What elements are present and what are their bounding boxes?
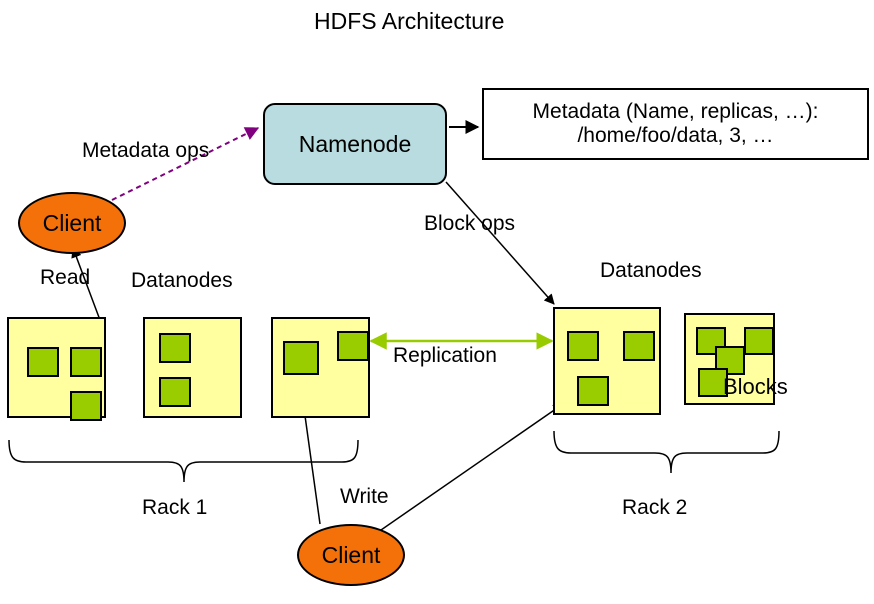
label-datanodes-left: Datanodes <box>131 269 233 293</box>
label-write: Write <box>340 485 389 509</box>
block <box>577 376 609 406</box>
block <box>70 391 102 421</box>
label-metadata-ops: Metadata ops <box>82 139 209 163</box>
block <box>27 347 59 377</box>
namenode-label: Namenode <box>265 131 445 158</box>
block <box>567 331 599 361</box>
metadata-line-2: /home/foo/data, 3, … <box>577 124 773 148</box>
block <box>159 333 191 363</box>
block <box>159 377 191 407</box>
block <box>337 331 369 361</box>
label-rack2: Rack 2 <box>622 496 687 520</box>
block <box>283 341 319 375</box>
label-replication: Replication <box>393 344 497 368</box>
label-rack1: Rack 1 <box>142 496 207 520</box>
metadata-box: Metadata (Name, replicas, …): /home/foo/… <box>482 88 869 160</box>
client-top-label: Client <box>43 210 102 237</box>
client-node-bottom[interactable]: Client <box>297 524 405 586</box>
client-bottom-label: Client <box>322 542 381 569</box>
block <box>623 331 655 361</box>
datanode-rack1-2[interactable] <box>143 317 242 418</box>
rack2-brace <box>554 431 779 473</box>
metadata-line-1: Metadata (Name, replicas, …): <box>533 100 819 124</box>
datanode-rack1-3[interactable] <box>271 317 370 418</box>
edge-block-ops <box>446 182 554 304</box>
client-node-top[interactable]: Client <box>18 192 126 254</box>
datanode-rack1-1[interactable] <box>7 317 106 418</box>
edge-write-to-dn4 <box>381 404 563 530</box>
label-read: Read <box>40 266 90 290</box>
rack1-brace <box>9 440 358 482</box>
label-datanodes-right: Datanodes <box>600 259 702 283</box>
hdfs-architecture-diagram: HDFS Architecture <box>0 0 874 604</box>
blocks-caption: Blocks <box>723 374 788 400</box>
block <box>744 327 774 355</box>
label-block-ops: Block ops <box>424 212 515 236</box>
namenode-box[interactable]: Namenode <box>263 103 447 185</box>
datanode-rack2-1[interactable] <box>553 307 661 415</box>
block <box>70 347 102 377</box>
